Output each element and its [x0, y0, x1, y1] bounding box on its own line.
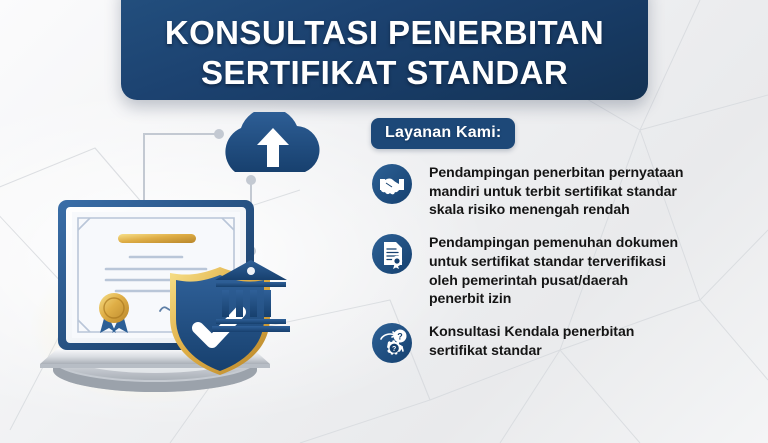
handshake-icon — [371, 163, 413, 205]
connector-dot — [214, 129, 224, 139]
text-line: oleh pemerintah pusat/daerah — [429, 271, 678, 290]
services-panel: Layanan Kami: — [371, 118, 763, 377]
services-heading-badge: Layanan Kami: — [371, 118, 515, 149]
svg-text:?: ? — [392, 346, 396, 353]
list-item[interactable]: Pendampingan pemenuhan dokumen untuk ser… — [371, 232, 763, 308]
text-line: Pendampingan pemenuhan dokumen — [429, 233, 678, 252]
list-item[interactable]: ? ? Konsultasi Kendala penerbitan sertif… — [371, 321, 763, 364]
title-banner: KONSULTASI PENERBITAN SERTIFIKAT STANDAR — [121, 0, 648, 100]
list-item[interactable]: Pendampingan penerbitan pernyataan mandi… — [371, 162, 763, 219]
connector-dot — [246, 175, 256, 185]
text-line: Konsultasi Kendala penerbitan — [429, 322, 634, 341]
text-line: mandiri untuk terbit sertifikat standar — [429, 182, 683, 201]
text-line: sertifikat standar — [429, 341, 634, 360]
infographic-canvas: KONSULTASI PENERBITAN SERTIFIKAT STANDAR — [0, 0, 768, 443]
hero-illustration — [30, 112, 370, 412]
list-item-text: Pendampingan penerbitan pernyataan mandi… — [429, 162, 683, 219]
svg-text:?: ? — [397, 332, 403, 342]
title-line-1: KONSULTASI PENERBITAN — [165, 16, 604, 49]
text-line: skala risiko menengah rendah — [429, 200, 683, 219]
list-item-text: Pendampingan pemenuhan dokumen untuk ser… — [429, 232, 678, 308]
services-list: Pendampingan penerbitan pernyataan mandi… — [371, 162, 763, 364]
list-item-text: Konsultasi Kendala penerbitan sertifikat… — [429, 321, 634, 359]
document-seal-icon — [371, 233, 413, 275]
text-line: Pendampingan penerbitan pernyataan — [429, 163, 683, 182]
title-line-2: SERTIFIKAT STANDAR — [201, 56, 568, 89]
text-line: untuk sertifikat standar terverifikasi — [429, 252, 678, 271]
cloud-upload-icon — [225, 112, 319, 172]
text-line: penerbit izin — [429, 289, 678, 308]
certificate-title-bar — [118, 234, 196, 243]
gear-question-icon: ? ? — [371, 322, 413, 364]
